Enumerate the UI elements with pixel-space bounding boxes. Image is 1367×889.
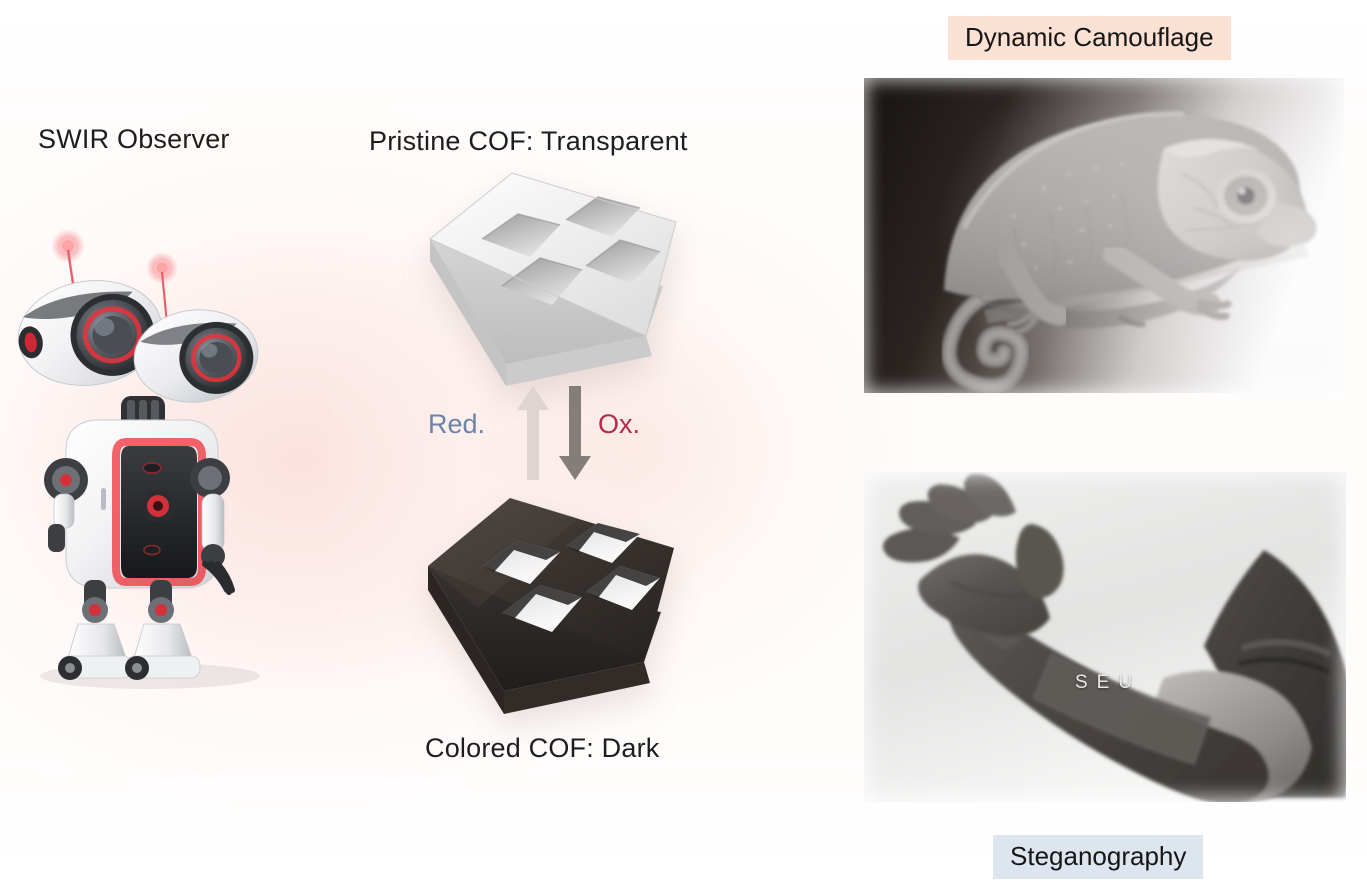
badge-steganography: Steganography [993, 835, 1203, 879]
colored-cof-label: Colored COF: Dark [425, 733, 659, 764]
cof-slab-dark-icon [418, 486, 684, 716]
arrow-down-icon [558, 384, 592, 482]
cof-slab-transparent-icon [420, 166, 686, 392]
swir-observer-label: SWIR Observer [38, 124, 230, 155]
arm-sleeve-photo-icon [864, 472, 1346, 802]
figure-canvas: SWIR Observer Pristine COF: Transparent … [0, 0, 1367, 889]
chameleon-photo-icon [864, 78, 1344, 393]
pristine-cof-label: Pristine COF: Transparent [369, 126, 688, 157]
robot-icon [0, 228, 300, 698]
reduction-label: Red. [428, 409, 485, 440]
oxidation-label: Ox. [598, 409, 640, 440]
badge-dynamic-camouflage: Dynamic Camouflage [948, 16, 1231, 60]
arrow-up-icon [516, 384, 550, 482]
